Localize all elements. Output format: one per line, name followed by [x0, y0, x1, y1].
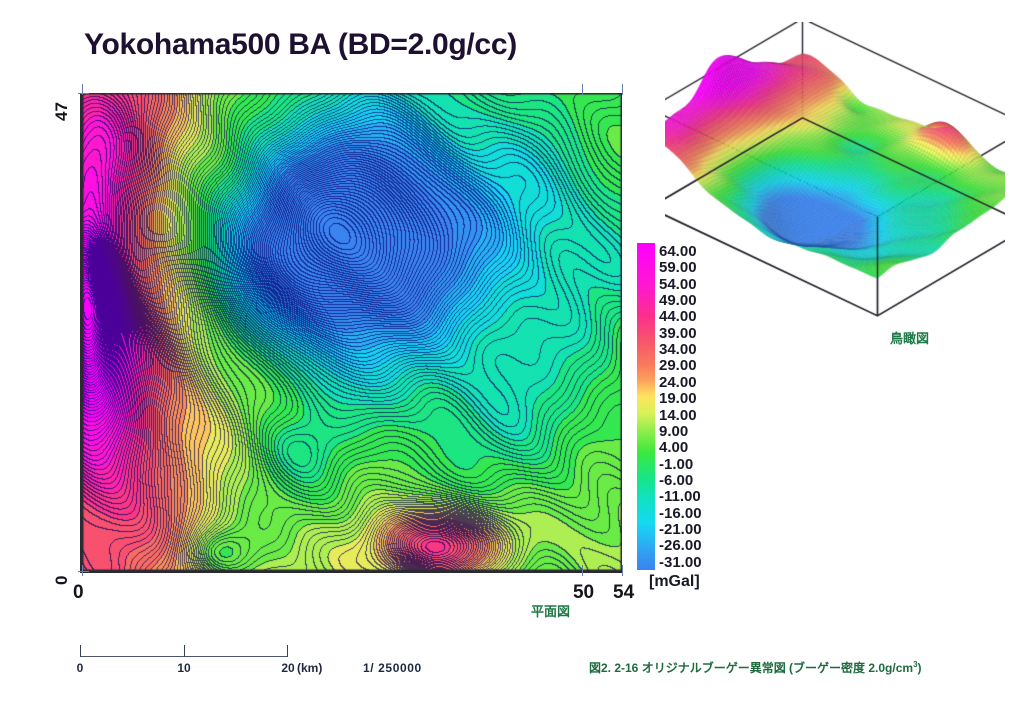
colorbar-label: 14.00: [659, 408, 697, 423]
colorbar-label: -1.00: [659, 457, 693, 472]
colorbar-label: -26.00: [659, 538, 702, 553]
contour-map-canvas: [82, 93, 622, 571]
x-axis-tick-label: 54: [613, 582, 634, 604]
surface-3d-canvas: [665, 22, 1005, 317]
scale-bar-tick: [80, 645, 81, 657]
x-axis-tick-top: [622, 84, 623, 95]
colorbar-label: 39.00: [659, 326, 697, 341]
colorbar-label: -31.00: [659, 555, 702, 570]
colorbar-label: 9.00: [659, 424, 688, 439]
contour-map-plan-view: [82, 93, 622, 571]
y-axis-tick: [78, 93, 89, 94]
birdseye-view-label: 鳥瞰図: [890, 328, 929, 347]
colorbar-label: 34.00: [659, 342, 697, 357]
scale-bar-tick: [287, 645, 288, 657]
figure-caption-close: ): [918, 661, 922, 675]
x-axis-tick-label: 0: [73, 582, 84, 604]
colorbar-label: -11.00: [659, 489, 701, 504]
x-axis-tick-label: 50: [573, 582, 594, 604]
y-axis-tick-label: 0: [52, 576, 72, 585]
figure-caption: 図2. 2-16 オリジナルブーゲー異常図 (ブーゲー密度 2.0g/cm3): [589, 659, 922, 676]
x-axis-tick: [622, 565, 623, 576]
scale-ratio-label: 1/ 250000: [363, 661, 422, 675]
x-axis-tick: [582, 565, 583, 576]
colorbar-label: -16.00: [659, 506, 702, 521]
figure-caption-main: 図2. 2-16 オリジナルブーゲー異常図 (ブーゲー密度 2.0g/cm: [589, 661, 913, 675]
scale-bar-tick-label: 20: [281, 661, 294, 675]
scale-bar-tick-label: 10: [177, 661, 190, 675]
y-axis-tick-label: 47: [52, 102, 72, 121]
scale-bar-tick: [184, 645, 185, 657]
colorbar-label: 29.00: [659, 358, 697, 373]
colorbar-label: 4.00: [659, 440, 688, 455]
colorbar-unit-label: [mGal]: [649, 573, 700, 591]
colorbar-label: 19.00: [659, 391, 697, 406]
scale-bar-tick-label: 0: [77, 661, 84, 675]
colorbar-gradient: [637, 243, 655, 570]
y-axis-tick: [78, 571, 89, 572]
x-axis-line: [82, 571, 622, 573]
x-axis-tick-top: [582, 84, 583, 95]
surface-3d-birdseye-view: [665, 22, 1005, 317]
colorbar-label: -21.00: [659, 522, 702, 537]
colorbar-label: -6.00: [659, 473, 693, 488]
map-scale-bar: 01020: [80, 645, 290, 659]
scale-bar-unit: (km): [297, 661, 322, 675]
page-title: Yokohama500 BA (BD=2.0g/cc): [84, 28, 517, 62]
plan-view-label: 平面図: [531, 601, 570, 620]
colorbar-label: 24.00: [659, 375, 697, 390]
y-axis-line: [80, 93, 82, 573]
